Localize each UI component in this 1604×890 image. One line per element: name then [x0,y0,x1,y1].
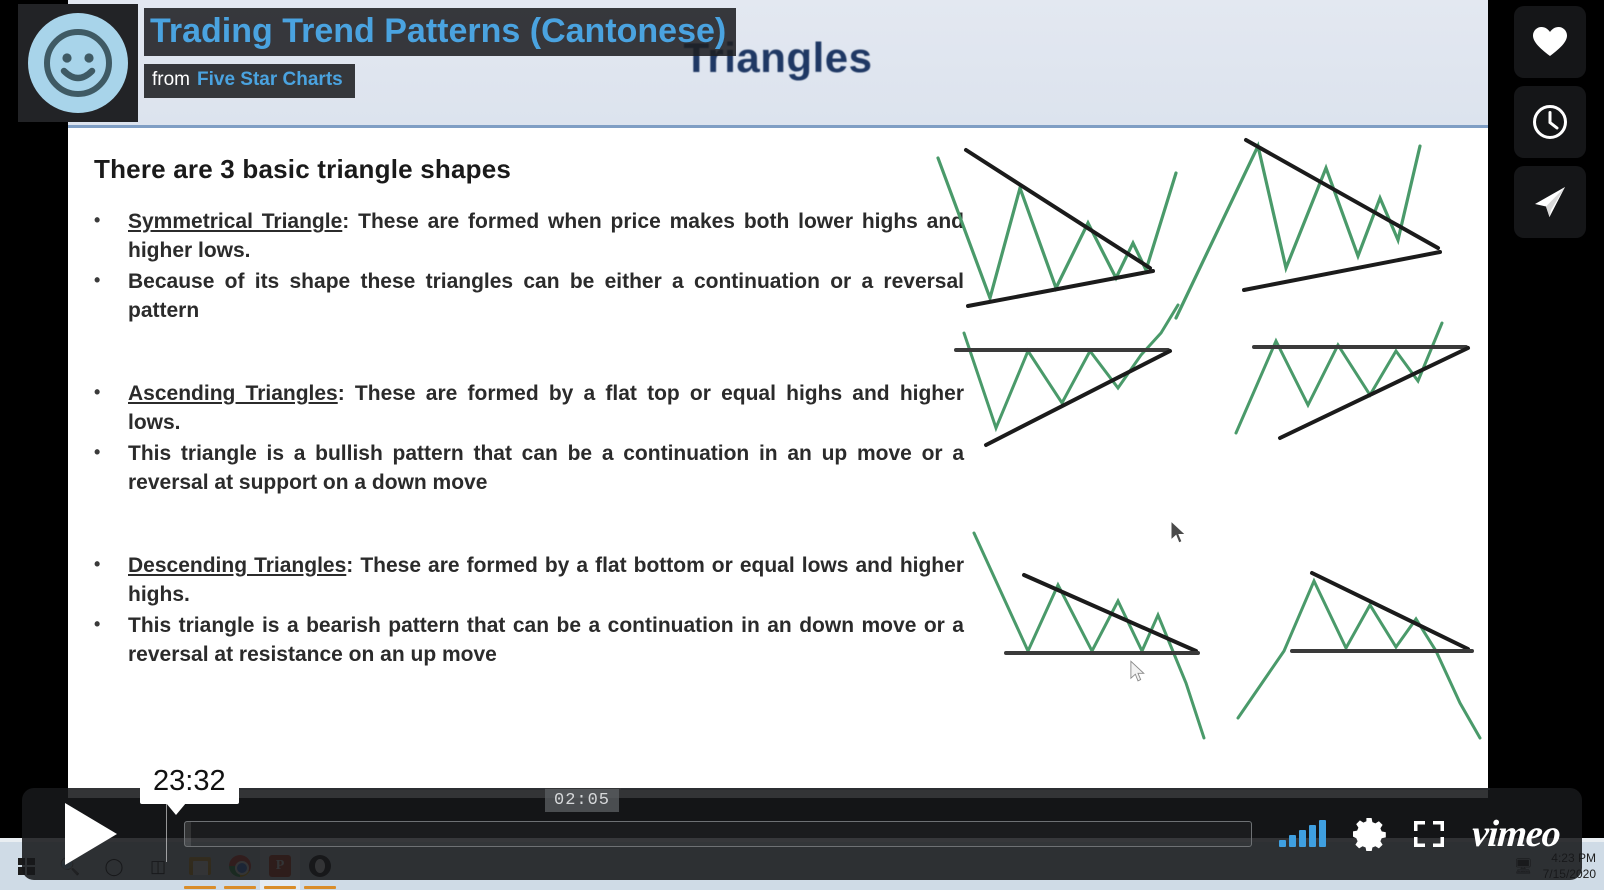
descending-triangle-2 [1238,573,1480,738]
hover-time-tooltip: 23:32 [140,762,239,804]
list-item: • This triangle is a bullish pattern tha… [94,440,964,498]
volume-button[interactable] [1279,821,1326,847]
bullet-dot: • [94,552,128,577]
avatar[interactable] [18,4,138,122]
video-title-text: Trading Trend Patterns (Cantonese) [150,12,726,50]
slide-body: There are 3 basic triangle shapes • Symm… [68,128,1488,798]
heart-icon [1532,26,1568,58]
gear-icon [1352,817,1386,851]
bullet-text: This triangle is a bullish pattern that … [128,440,964,498]
list-item: • Symmetrical Triangle: These are formed… [94,208,964,266]
bullet-group-descending: • Descending Triangles: These are formed… [94,552,964,670]
share-button[interactable] [1514,166,1586,238]
bullet-dot: • [94,208,128,233]
bullet-dot: • [94,440,128,465]
bullet-dot: • [94,268,128,293]
ascending-triangle-2 [1236,323,1468,438]
symmetrical-triangle-1 [938,150,1176,306]
play-icon [65,803,117,865]
watch-later-button[interactable] [1514,86,1586,158]
owner-name[interactable]: Five Star Charts [197,69,343,91]
player-top-overlay: Trading Trend Patterns (Cantonese) from … [0,0,1604,130]
list-item: • Descending Triangles: These are formed… [94,552,964,610]
symmetrical-triangle-2 [1176,140,1440,318]
bullet-term: Descending Triangles [128,554,346,577]
player-controls: vimeo [22,788,1582,880]
right-controls: vimeo [1279,812,1560,856]
like-button[interactable] [1514,6,1586,78]
video-owner[interactable]: from Five Star Charts [144,64,355,98]
fullscreen-button[interactable] [1412,819,1446,849]
progress-scrubber[interactable] [184,821,1252,847]
bullet-group-ascending: • Ascending Triangles: These are formed … [94,380,964,498]
triangle-diagram-svg [928,128,1488,798]
ascending-triangle-1 [956,305,1178,445]
volume-icon [1279,840,1286,847]
vimeo-logo[interactable]: vimeo [1471,812,1562,856]
side-action-buttons [1514,6,1586,238]
bullet-term: Ascending Triangles [128,382,338,405]
descending-triangle-1 [974,533,1204,738]
bullet-group-symmetrical: • Symmetrical Triangle: These are formed… [94,208,964,326]
bullet-term: Symmetrical Triangle [128,210,342,233]
smiley-face-icon [39,24,117,102]
clock-icon [1532,104,1568,140]
bullet-text: Because of its shape these triangles can… [128,268,964,326]
from-label: from [152,69,190,91]
bullet-dot: • [94,612,128,637]
progress-fill [185,822,191,846]
bullet-dot: • [94,380,128,405]
list-item: • Ascending Triangles: These are formed … [94,380,964,438]
bullet-text: This triangle is a bearish pattern that … [128,612,964,670]
current-time-badge: 02:05 [545,789,619,812]
settings-button[interactable] [1352,817,1386,851]
fullscreen-icon [1412,819,1446,849]
list-item: • Because of its shape these triangles c… [94,268,964,326]
avatar-image [28,13,128,113]
bullet-list: • Symmetrical Triangle: These are formed… [94,208,964,724]
play-button[interactable] [46,801,136,867]
vimeo-player: Slide 5 of 18 🔍 ◯ ◫ [0,0,1604,890]
slide-lead-text: There are 3 basic triangle shapes [94,154,511,185]
video-title[interactable]: Trading Trend Patterns (Cantonese) [144,8,736,56]
triangle-diagrams [928,128,1488,798]
share-icon [1532,184,1568,220]
list-item: • This triangle is a bearish pattern tha… [94,612,964,670]
